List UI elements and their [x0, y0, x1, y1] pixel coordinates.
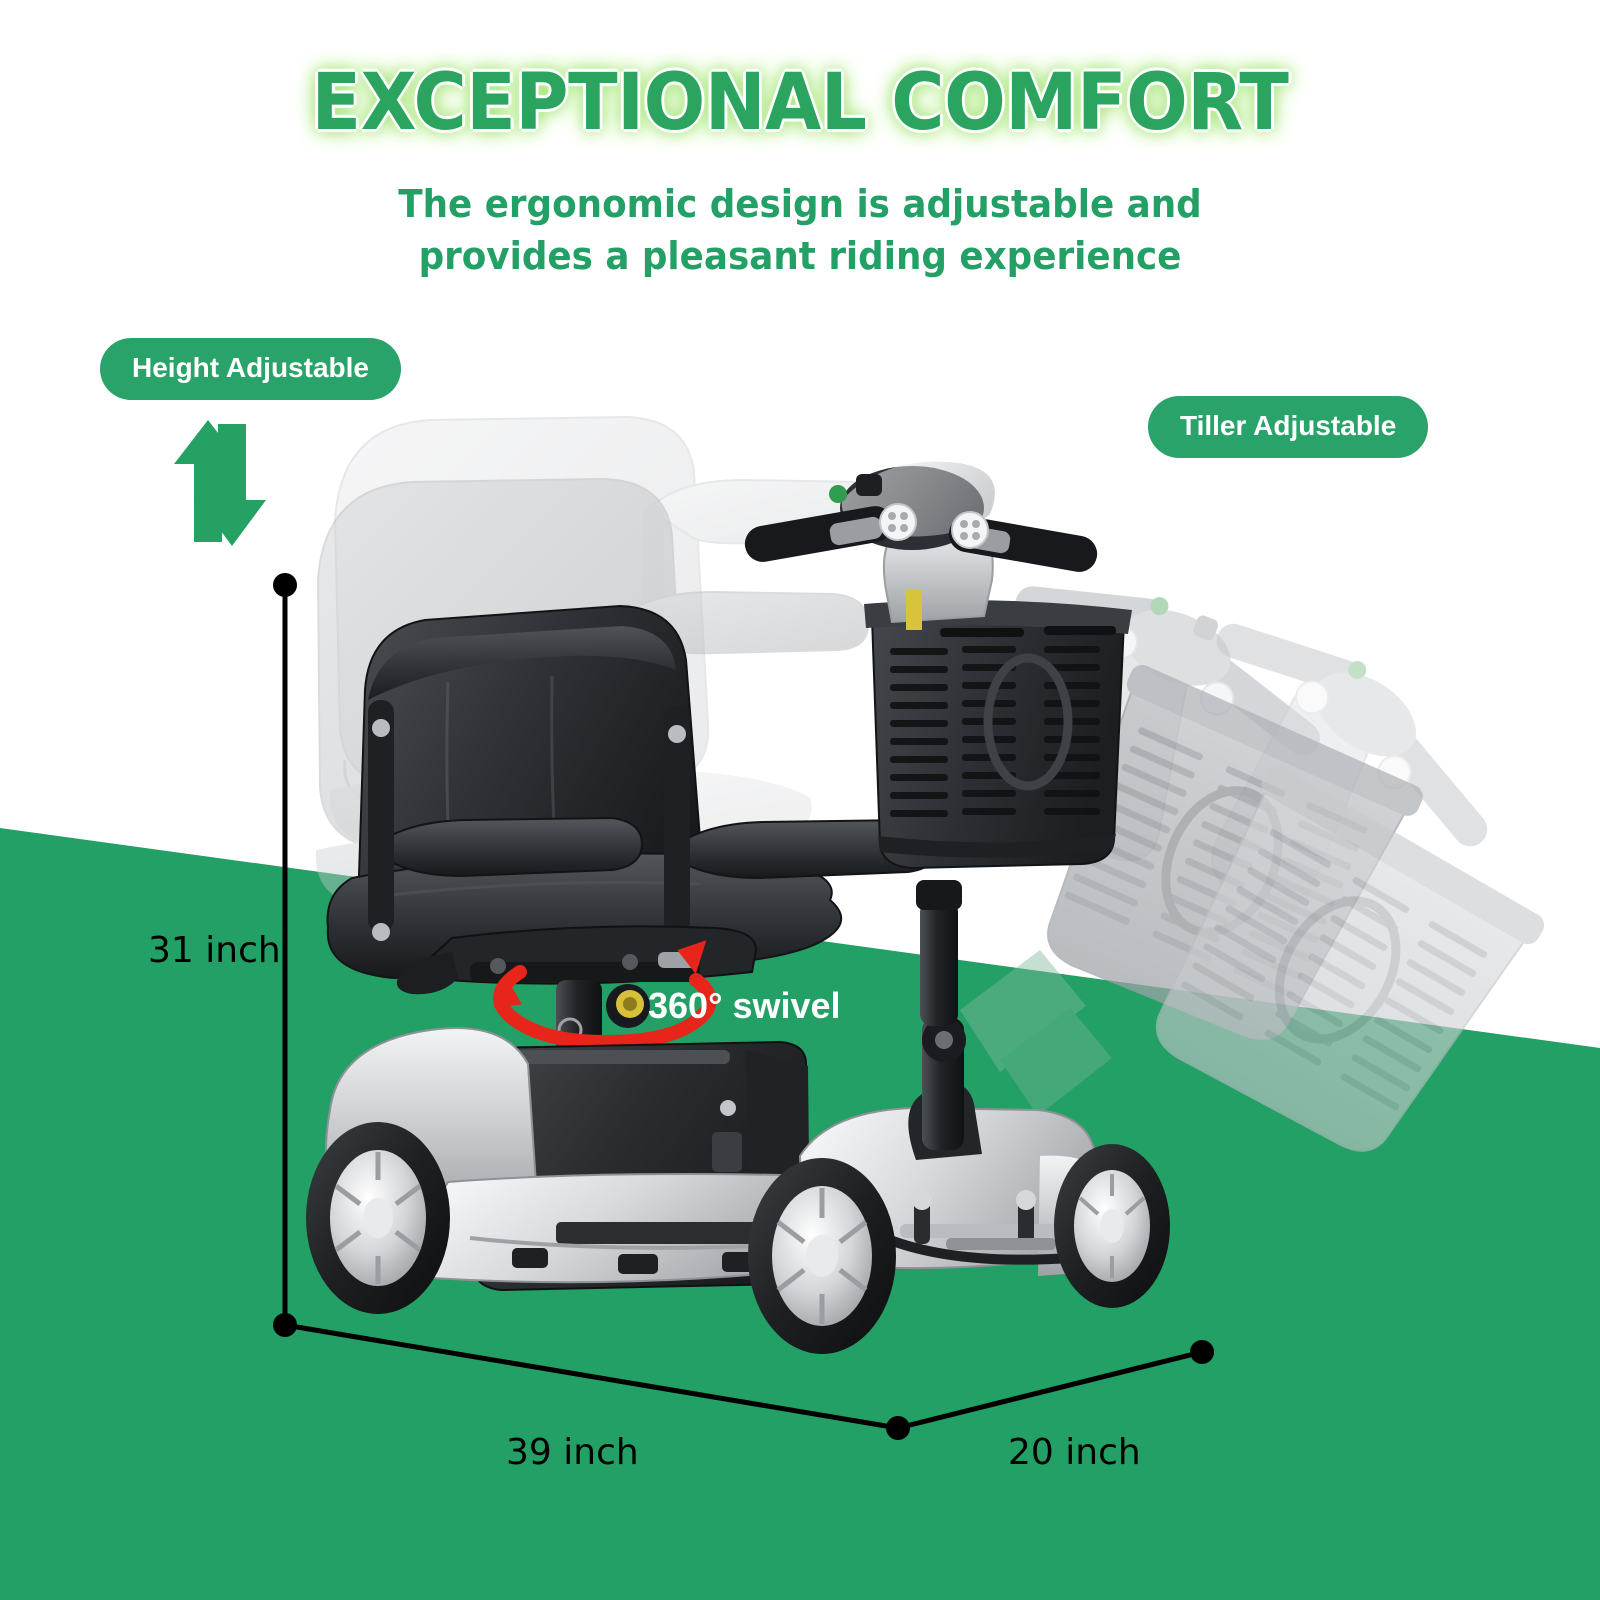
- dimension-width-label: 20 inch: [1008, 1432, 1141, 1473]
- subtitle-line-1: The ergonomic design is adjustable and: [330, 178, 1270, 230]
- page-subtitle: The ergonomic design is adjustable and p…: [330, 178, 1270, 282]
- subtitle-line-2: provides a pleasant riding experience: [330, 230, 1270, 282]
- badge-tiller-adjustable: Tiller Adjustable: [1148, 396, 1428, 458]
- seat-assembly: [328, 606, 939, 994]
- up-down-arrow-icon: [160, 412, 280, 572]
- front-basket: [864, 600, 1132, 868]
- swivel-annotation-label: 360° swivel: [648, 985, 841, 1027]
- key-slot: [906, 590, 922, 630]
- handlebar-left: [742, 503, 896, 565]
- front-wheel-left: [748, 1158, 896, 1354]
- power-indicator: [829, 485, 847, 503]
- infographic-canvas: EXCEPTIONAL COMFORT The ergonomic design…: [0, 0, 1600, 1600]
- front-wheel-right: [1054, 1144, 1170, 1308]
- swivel-knob: [606, 984, 650, 1028]
- badge-height-adjustable: Height Adjustable: [100, 338, 401, 400]
- rear-wheel: [306, 1122, 450, 1314]
- page-title: EXCEPTIONAL COMFORT: [56, 58, 1544, 148]
- dimension-height-label: 31 inch: [148, 930, 281, 971]
- tiller-shaft: [908, 880, 982, 1160]
- dimension-length-label: 39 inch: [506, 1432, 639, 1473]
